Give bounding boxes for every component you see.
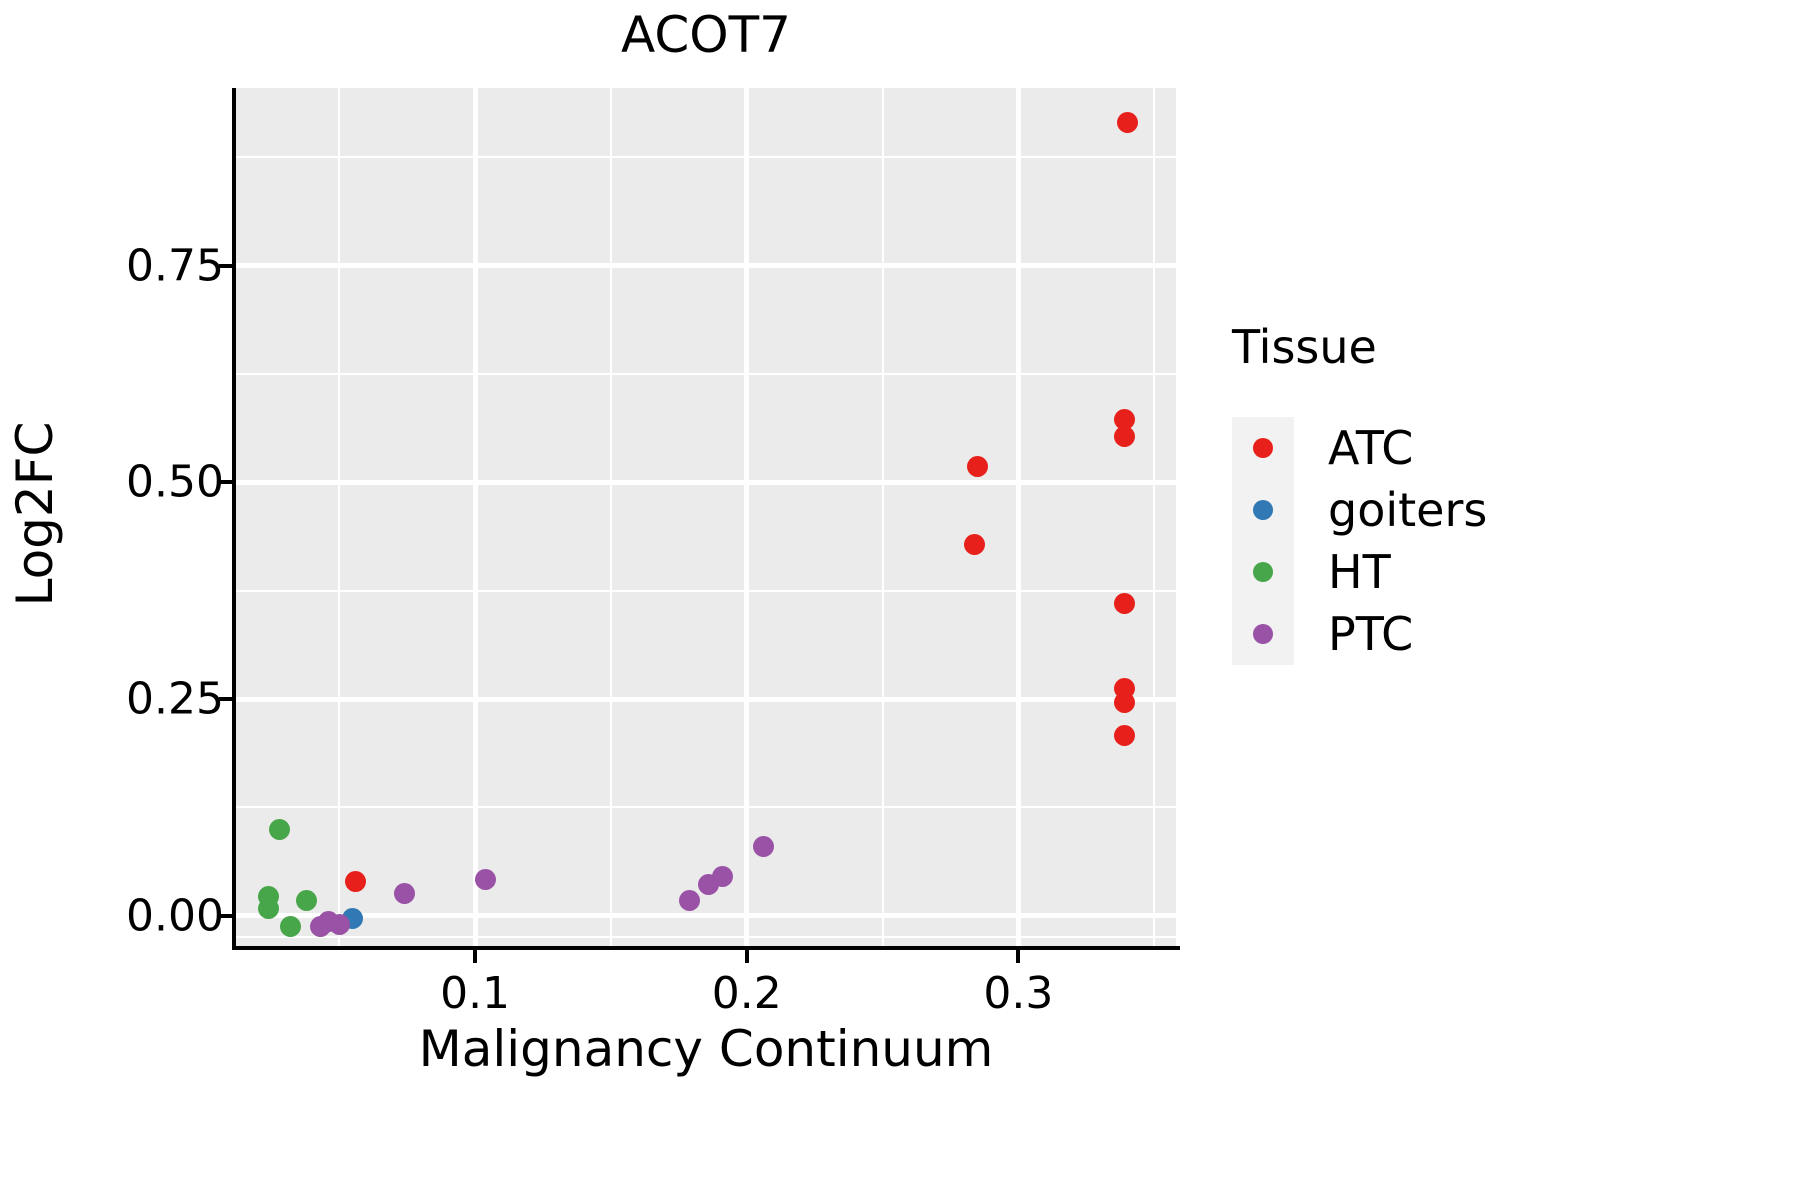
- legend-item-ht[interactable]: HT: [1232, 541, 1487, 603]
- data-point-ht: [280, 916, 301, 937]
- grid-line-major-vertical: [744, 88, 749, 946]
- data-point-ptc: [753, 836, 774, 857]
- data-point-atc: [1114, 692, 1135, 713]
- data-point-atc: [967, 456, 988, 477]
- legend: Tissue ATCgoitersHTPTC: [1232, 320, 1632, 410]
- x-tick-mark: [745, 950, 749, 963]
- x-tick-label: 0.1: [440, 968, 510, 1019]
- chart-root: ACOT7 0.000.250.500.75 0.10.20.3 Log2FC …: [0, 0, 1800, 1200]
- y-tick-label: 0.50: [126, 457, 224, 508]
- x-tick-mark: [1016, 950, 1020, 963]
- grid-line-major-horizontal: [236, 480, 1176, 485]
- data-point-ptc: [394, 883, 415, 904]
- page-title: ACOT7: [236, 8, 1176, 63]
- legend-item-atc[interactable]: ATC: [1232, 417, 1487, 479]
- legend-items: ATCgoitersHTPTC: [1232, 417, 1487, 665]
- data-point-ptc: [329, 914, 350, 935]
- x-tick-label: 0.2: [712, 968, 782, 1019]
- legend-item-label: PTC: [1328, 611, 1413, 657]
- grid-line-minor-vertical: [338, 88, 340, 946]
- grid-line-minor-vertical: [610, 88, 612, 946]
- data-point-atc: [1114, 593, 1135, 614]
- legend-key-swatch: [1232, 479, 1294, 541]
- plot-panel: [236, 88, 1176, 946]
- legend-item-label: HT: [1328, 549, 1391, 595]
- y-tick-label: 0.25: [126, 674, 224, 725]
- legend-item-goiters[interactable]: goiters: [1232, 479, 1487, 541]
- data-point-ptc: [310, 916, 331, 937]
- legend-title: Tissue: [1232, 320, 1632, 374]
- grid-line-major-horizontal: [236, 913, 1176, 918]
- legend-key-swatch: [1232, 541, 1294, 603]
- data-point-atc: [345, 871, 366, 892]
- legend-item-label: ATC: [1328, 425, 1413, 471]
- y-tick-label: 0.75: [126, 240, 224, 291]
- grid-line-major-vertical: [473, 88, 478, 946]
- y-axis-line: [232, 88, 236, 946]
- legend-dot-icon: [1253, 562, 1273, 582]
- data-point-atc: [1114, 426, 1135, 447]
- legend-dot-icon: [1253, 438, 1273, 458]
- data-point-atc: [1114, 725, 1135, 746]
- data-point-atc: [1117, 112, 1138, 133]
- grid-line-minor-horizontal: [236, 373, 1176, 375]
- grid-line-minor-horizontal: [236, 936, 1176, 938]
- grid-line-minor-horizontal: [236, 806, 1176, 808]
- x-axis-title: Malignancy Continuum: [236, 1020, 1176, 1078]
- y-tick-label: 0.00: [126, 890, 224, 941]
- legend-key-swatch: [1232, 417, 1294, 479]
- legend-key-swatch: [1232, 603, 1294, 665]
- grid-line-major-horizontal: [236, 263, 1176, 268]
- legend-item-ptc[interactable]: PTC: [1232, 603, 1487, 665]
- grid-line-major-vertical: [1016, 88, 1021, 946]
- data-point-atc: [964, 534, 985, 555]
- grid-line-minor-horizontal: [236, 156, 1176, 158]
- grid-line-major-horizontal: [236, 697, 1176, 702]
- legend-dot-icon: [1253, 500, 1273, 520]
- grid-line-minor-horizontal: [236, 590, 1176, 592]
- data-point-ptc: [475, 869, 496, 890]
- data-point-ptc: [698, 874, 719, 895]
- x-tick-label: 0.3: [983, 968, 1053, 1019]
- data-point-ht: [269, 819, 290, 840]
- x-axis-line: [232, 946, 1180, 950]
- data-point-ht: [296, 890, 317, 911]
- y-axis-title: Log2FC: [6, 304, 64, 724]
- data-point-ptc: [679, 890, 700, 911]
- legend-item-label: goiters: [1328, 487, 1487, 533]
- legend-dot-icon: [1253, 624, 1273, 644]
- grid-line-minor-vertical: [1153, 88, 1155, 946]
- grid-line-minor-vertical: [882, 88, 884, 946]
- x-tick-mark: [473, 950, 477, 963]
